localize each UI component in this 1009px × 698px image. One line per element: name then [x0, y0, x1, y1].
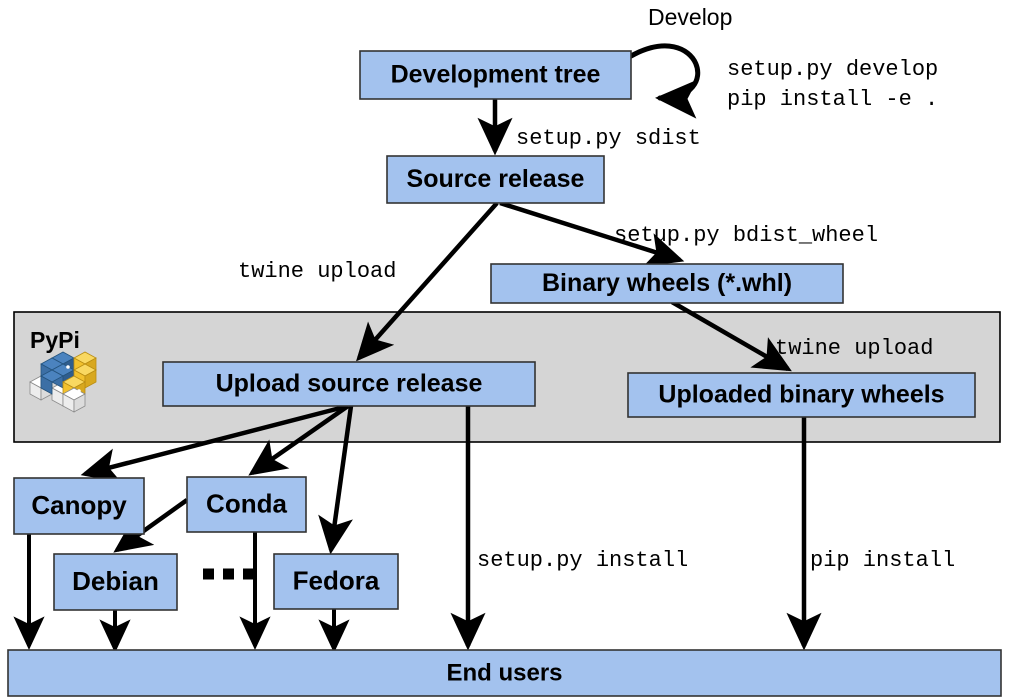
- node-conda-label: Conda: [206, 488, 287, 518]
- node-debian[interactable]: Debian: [54, 554, 177, 610]
- node-source-release[interactable]: Source release: [387, 156, 604, 203]
- edge-label-setup-py-sdist: setup.py sdist: [516, 126, 701, 151]
- node-uploaded-binary-wheels[interactable]: Uploaded binary wheels: [628, 373, 975, 417]
- node-development-tree-label: Development tree: [391, 61, 601, 89]
- edge-label-pip-install: pip install: [810, 548, 955, 573]
- node-fedora-label: Fedora: [293, 565, 380, 595]
- node-source-release-label: Source release: [407, 165, 585, 193]
- node-conda[interactable]: Conda: [187, 477, 306, 532]
- edge-label-twine-upload-source: twine upload: [238, 259, 396, 284]
- node-fedora[interactable]: Fedora: [274, 554, 398, 609]
- node-binary-wheels[interactable]: Binary wheels (*.whl): [491, 264, 843, 303]
- node-canopy[interactable]: Canopy: [14, 478, 144, 534]
- node-binary-wheels-label: Binary wheels (*.whl): [542, 269, 792, 297]
- node-end-users-label: End users: [446, 659, 562, 686]
- node-development-tree[interactable]: Development tree: [360, 51, 631, 99]
- edge-label-setup-py-bdist-wheel: setup.py bdist_wheel: [614, 223, 878, 248]
- edge-label-setup-py-install: setup.py install: [477, 548, 688, 573]
- edge-label-twine-upload-wheels: twine upload: [775, 336, 933, 361]
- ellipsis-icon: [203, 569, 254, 580]
- pypi-group-label: PyPi: [30, 327, 80, 353]
- edge-develop-loop: [631, 46, 698, 98]
- node-uploaded-binary-wheels-label: Uploaded binary wheels: [658, 381, 944, 409]
- node-upload-source-release-label: Upload source release: [216, 370, 483, 398]
- edge-label-develop: Develop: [648, 4, 732, 30]
- node-canopy-label: Canopy: [31, 490, 127, 520]
- node-end-users[interactable]: End users: [8, 650, 1001, 696]
- node-debian-label: Debian: [72, 566, 159, 596]
- diagram-canvas: PyPi: [0, 0, 1009, 698]
- edge-label-setup-py-develop: setup.py develop: [727, 57, 938, 82]
- edge-label-pip-install-editable: pip install -e .: [727, 87, 938, 112]
- node-upload-source-release[interactable]: Upload source release: [163, 362, 535, 406]
